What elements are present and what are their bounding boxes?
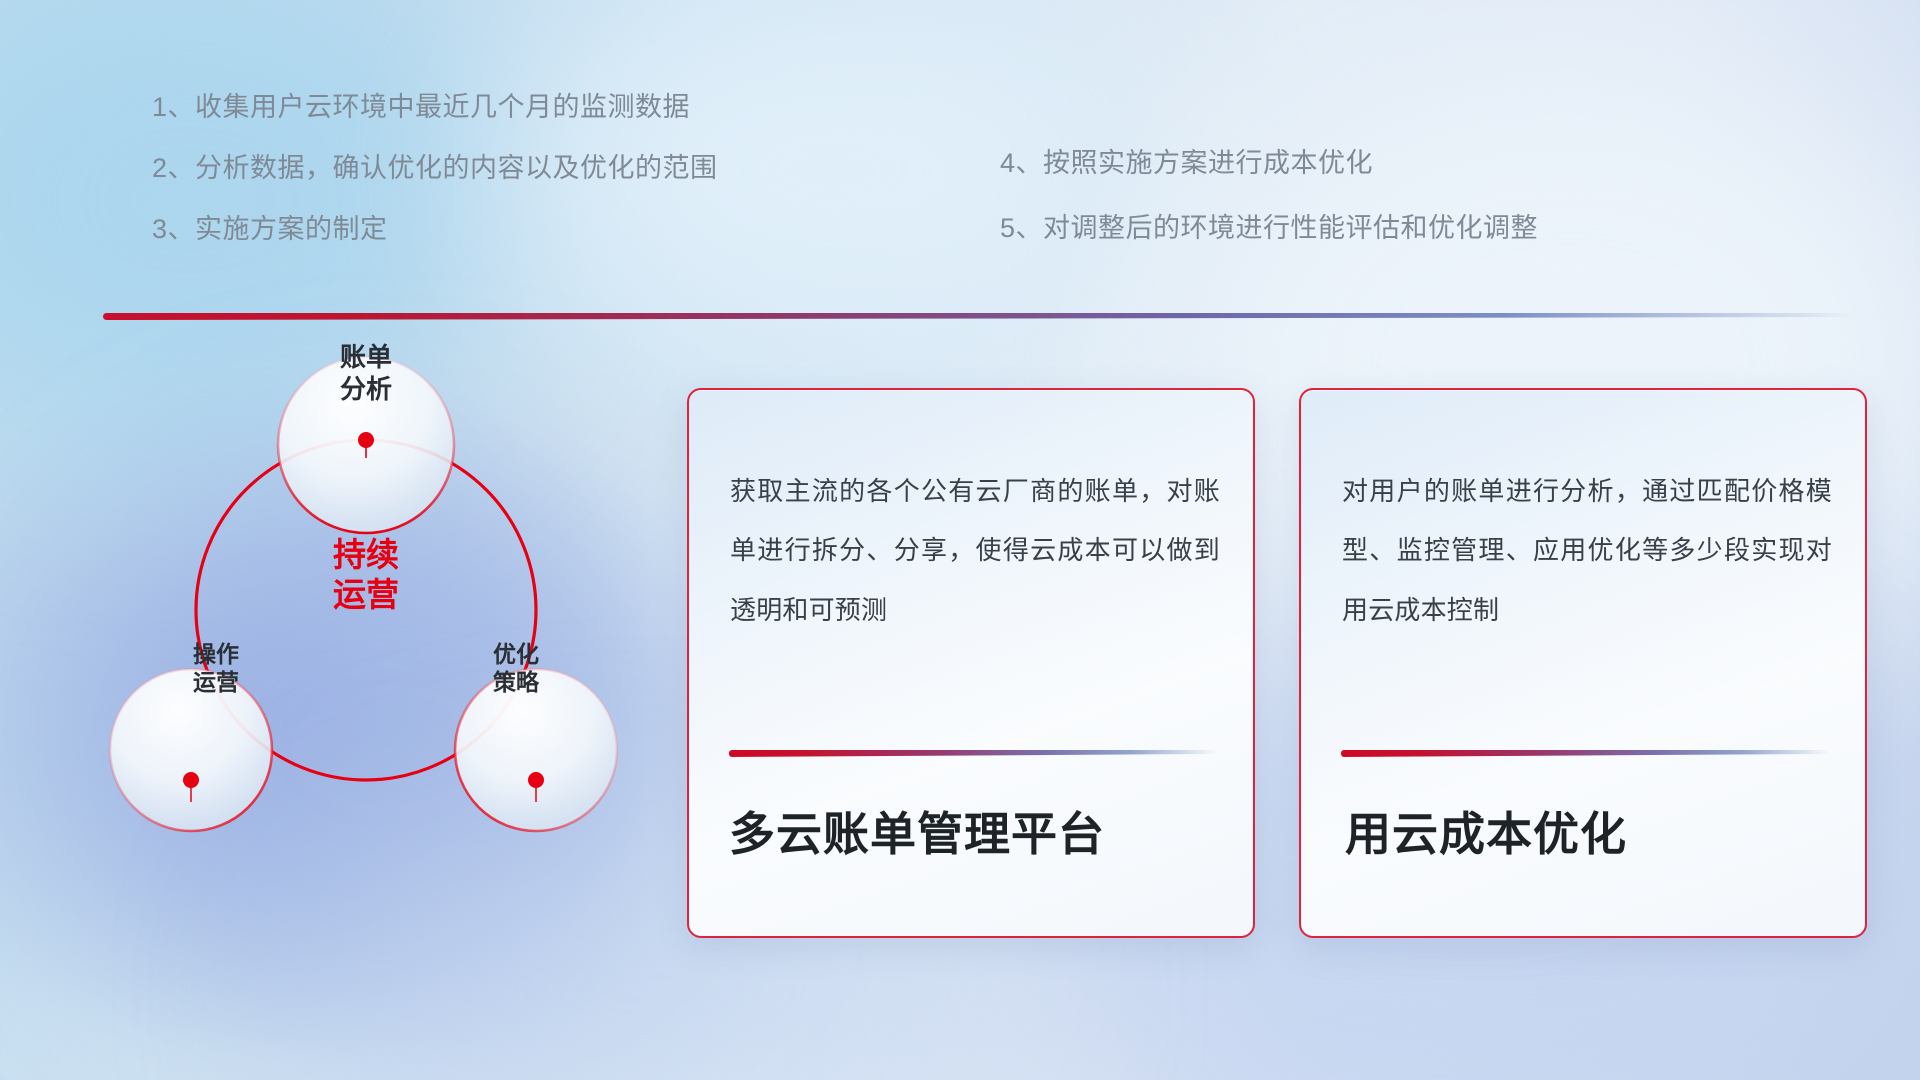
steps-list-left: 1、收集用户云环境中最近几个月的监测数据 2、分析数据，确认优化的内容以及优化的… bbox=[152, 94, 892, 277]
card-cloud-cost-optimization[interactable]: 对用户的账单进行分析，通过匹配价格模型、监控管理、应用优化等多少段实现对用云成本… bbox=[1299, 388, 1867, 938]
card-body-text: 对用户的账单进行分析，通过匹配价格模型、监控管理、应用优化等多少段实现对用云成本… bbox=[1342, 462, 1832, 640]
venn-node-bottom-right bbox=[528, 772, 544, 788]
step-item-5: 5、对调整后的环境进行性能评估和优化调整 bbox=[1000, 215, 1760, 242]
card-multicloud-billing-platform[interactable]: 获取主流的各个公有云厂商的账单，对账单进行拆分、分享，使得云成本可以做到透明和可… bbox=[687, 388, 1255, 938]
venn-bubble-bottom-right bbox=[455, 669, 617, 831]
venn-diagram: 账单 分析 持续 运营 操作 运营 优化 策略 bbox=[96, 350, 636, 950]
step-item-1: 1、收集用户云环境中最近几个月的监测数据 bbox=[152, 94, 892, 121]
step-item-4: 4、按照实施方案进行成本优化 bbox=[1000, 150, 1760, 177]
card-title: 用云成本优化 bbox=[1345, 798, 1835, 864]
venn-bubble-bottom-left bbox=[110, 669, 272, 831]
step-item-2: 2、分析数据，确认优化的内容以及优化的范围 bbox=[152, 155, 892, 182]
venn-node-top bbox=[358, 432, 374, 448]
header-divider-rule bbox=[103, 313, 1853, 320]
venn-node-bottom-left bbox=[183, 772, 199, 788]
step-item-3: 3、实施方案的制定 bbox=[152, 216, 892, 243]
card-title: 多云账单管理平台 bbox=[729, 798, 1223, 864]
card-body-text: 获取主流的各个公有云厂商的账单，对账单进行拆分、分享，使得云成本可以做到透明和可… bbox=[730, 462, 1220, 640]
venn-diagram-svg bbox=[96, 350, 636, 950]
steps-list-right: 4、按照实施方案进行成本优化 5、对调整后的环境进行性能评估和优化调整 bbox=[1000, 150, 1760, 280]
card-divider-rule bbox=[729, 750, 1219, 757]
card-divider-rule bbox=[1341, 750, 1831, 757]
